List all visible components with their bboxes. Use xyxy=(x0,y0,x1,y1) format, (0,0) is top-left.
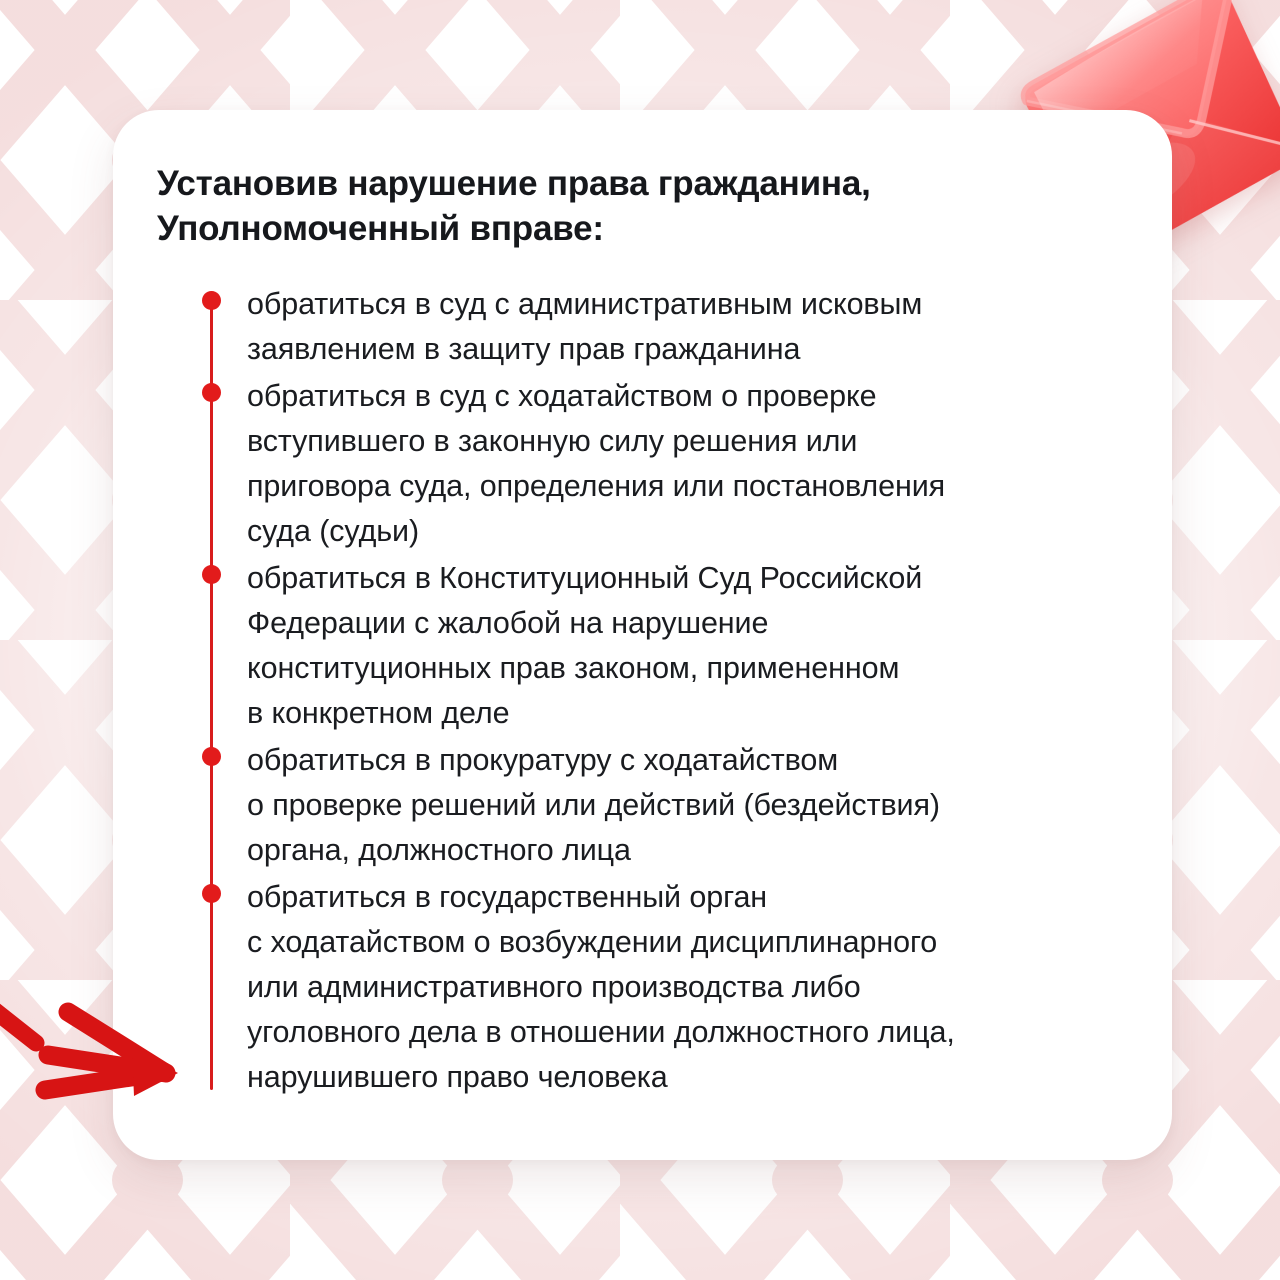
bullet-dot-icon xyxy=(202,884,221,903)
list-item-label: обратиться в суд с ходатайством о провер… xyxy=(247,374,1142,554)
content-card: Установив нарушение права гражданина, Уп… xyxy=(113,110,1172,1160)
page-title: Установив нарушение права гражданина, Уп… xyxy=(157,162,1087,252)
rights-list: обратиться в суд с административным иско… xyxy=(157,282,1142,1102)
bullet-dot-icon xyxy=(202,565,221,584)
bullet-dot-icon xyxy=(202,291,221,310)
list-item: обратиться в Конституционный Суд Российс… xyxy=(157,556,1142,736)
list-item: обратиться в суд с административным иско… xyxy=(157,282,1142,372)
list-item-label: обратиться в суд с административным иско… xyxy=(247,282,1142,372)
list-item-label: обратиться в Конституционный Суд Российс… xyxy=(247,556,1142,736)
list-item: обратиться в суд с ходатайством о провер… xyxy=(157,374,1142,554)
list-item-label: обратиться в прокуратуру с ходатайством … xyxy=(247,738,1142,873)
list-item: обратиться в государственный орган с ход… xyxy=(157,875,1142,1100)
bullet-dot-icon xyxy=(202,383,221,402)
bullet-dot-icon xyxy=(202,747,221,766)
list-item: обратиться в прокуратуру с ходатайством … xyxy=(157,738,1142,873)
arrow-right-icon xyxy=(0,978,197,1118)
list-item-label: обратиться в государственный орган с ход… xyxy=(247,875,1142,1100)
